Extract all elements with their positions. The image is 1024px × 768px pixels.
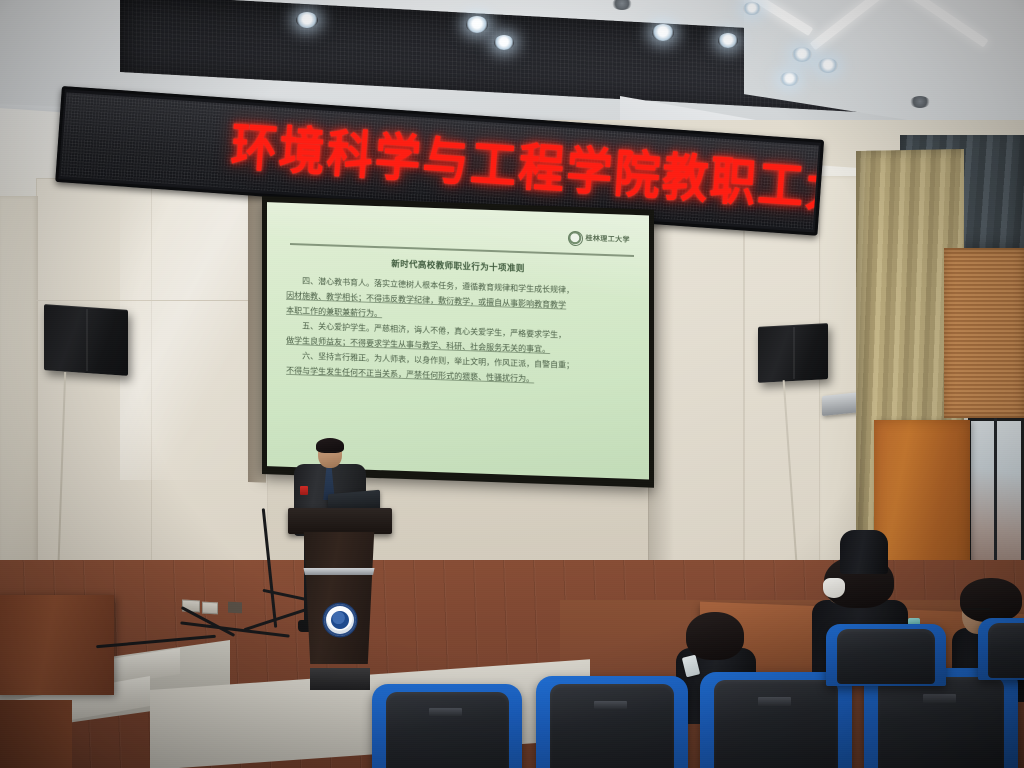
- audience-right-hair: [960, 578, 1022, 622]
- seat-back-pad-b1: [837, 629, 935, 684]
- ceiling-spotlight-10: [743, 2, 761, 15]
- lectern-metal-band: [302, 568, 376, 575]
- lectern-base: [310, 668, 370, 690]
- auditorium-seat-back-1[interactable]: [826, 624, 946, 686]
- seat-number-plate-4: [923, 694, 957, 703]
- ceiling-spotlight-8: [780, 72, 799, 86]
- seat-back-pad-b2: [988, 623, 1024, 678]
- seat-back-pad-4: [878, 677, 1004, 768]
- university-emblem-inner: [331, 611, 349, 629]
- audience-member-far-right: [840, 520, 888, 572]
- ceiling-spotlight-1: [296, 12, 318, 28]
- wall-outlet-3: [228, 602, 242, 614]
- wall-speaker-right-divider: [793, 327, 795, 380]
- slide-logo-text: 桂林理工大学: [586, 236, 630, 245]
- seat-back-pad-3: [714, 680, 839, 768]
- audience-far-right-torso: [840, 530, 888, 574]
- slide-university-logo: 桂林理工大学: [568, 231, 630, 248]
- lectern: [288, 508, 392, 694]
- auditorium-seat-3[interactable]: [700, 672, 852, 768]
- wall-speaker-left: [44, 304, 128, 376]
- side-cabinet-left-lower: [0, 700, 72, 768]
- seat-back-pad-1: [386, 692, 509, 768]
- lectern-body: [299, 532, 379, 664]
- slide-body: 四、潜心教书育人。落实立德树人根本任务，遵循教育规律和学生成长规律， 因材施教、…: [286, 274, 634, 390]
- auditorium-seat-1[interactable]: [372, 684, 522, 768]
- seat-number-plate-2: [594, 701, 627, 709]
- face-mask-icon: [823, 578, 845, 598]
- ceiling-spotlight-4: [652, 24, 674, 41]
- ceiling-spotlight-7: [818, 58, 838, 73]
- wall-speaker-right: [758, 323, 828, 383]
- auditorium-photo: 环境科学与工程学院教职工大会 桂林理工大学 新时代高校教师职业行为十项准则 四、…: [0, 0, 1024, 768]
- auditorium-seat-back-2[interactable]: [978, 618, 1024, 680]
- ceiling-spotlight-3: [494, 35, 514, 50]
- auditorium-seat-2[interactable]: [536, 676, 688, 768]
- eyeglasses-icon: [962, 608, 992, 615]
- lectern-top: [288, 508, 392, 534]
- wall-joint-left-h: [36, 300, 268, 301]
- presenter-badge: [300, 486, 308, 495]
- seat-number-plate-1: [429, 708, 462, 716]
- wooden-acoustic-panel: [944, 248, 1024, 418]
- university-emblem-icon: [324, 604, 356, 636]
- ceiling-spotlight-off-2: [910, 96, 930, 108]
- university-seal-icon: [568, 231, 583, 247]
- ceiling-spotlight-6: [792, 47, 812, 62]
- ceiling-spotlight-2: [466, 16, 488, 33]
- seat-back-pad-2: [550, 684, 675, 768]
- wall-speaker-left-divider: [86, 309, 88, 371]
- seat-number-plate-3: [758, 697, 791, 705]
- audience-left-hair: [686, 612, 744, 660]
- presenter-eyeglasses-icon: [319, 451, 341, 456]
- wall-outlet-2: [202, 602, 218, 615]
- ceiling-spotlight-5: [718, 33, 738, 48]
